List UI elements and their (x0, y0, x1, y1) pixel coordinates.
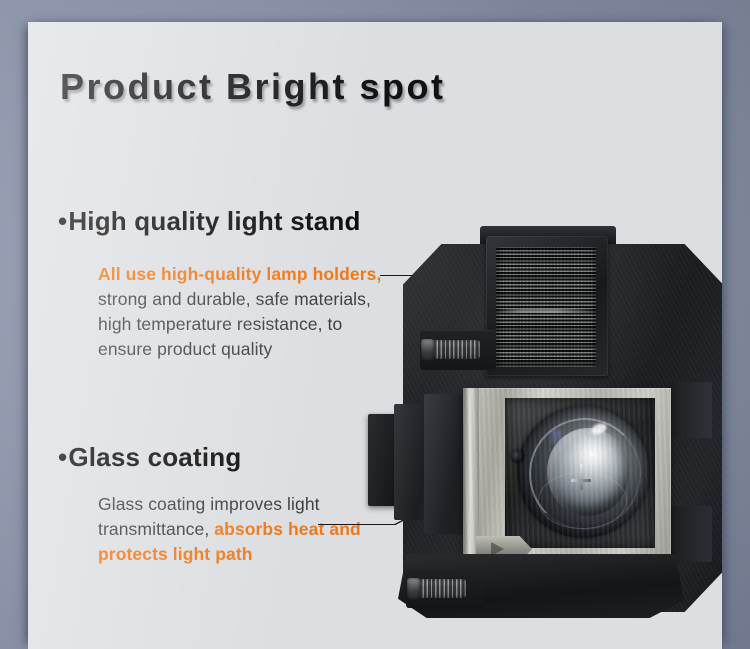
section-heading-glass-coating: •Glass coating (58, 442, 241, 473)
housing-right-rib-lower (668, 506, 712, 562)
bulb-socket-node (511, 450, 524, 463)
bullet-icon: • (58, 442, 67, 472)
screw-head (421, 339, 434, 361)
section-heading-label: High quality light stand (68, 206, 360, 236)
section-body-high-quality-light-stand: All use high-quality lamp holders, stron… (98, 262, 388, 361)
vent-bezel (486, 236, 608, 376)
glass-dome-bulb (517, 406, 649, 538)
section-body-rest: strong and durable, safe materials, high… (98, 289, 371, 359)
housing-right-rib-upper (668, 382, 712, 438)
section-heading-label: Glass coating (68, 442, 241, 472)
screw-recess-lower (406, 570, 484, 608)
image-canvas: Product Bright spot •High quality light … (0, 0, 750, 649)
section-body-glass-coating: Glass coating improves light transmittan… (98, 492, 368, 567)
lamp-window (505, 398, 655, 548)
screw-icon-lower (414, 579, 466, 598)
mesh-grille-icon (496, 247, 596, 367)
screw-recess-upper (420, 330, 496, 370)
housing-left-tab-inner (424, 394, 464, 534)
screw-head (407, 578, 420, 600)
page-title: Product Bright spot (60, 66, 445, 108)
content-panel: Product Bright spot •High quality light … (28, 22, 722, 649)
product-image-projector-lamp (368, 218, 722, 638)
metal-frame (463, 388, 671, 560)
bulb-chromatic-tint (551, 430, 561, 444)
section-heading-high-quality-light-stand: •High quality light stand (58, 206, 361, 237)
screw-icon-upper (428, 340, 480, 359)
bullet-icon: • (58, 206, 67, 236)
section-body-highlight: All use high-quality lamp holders, (98, 264, 381, 284)
